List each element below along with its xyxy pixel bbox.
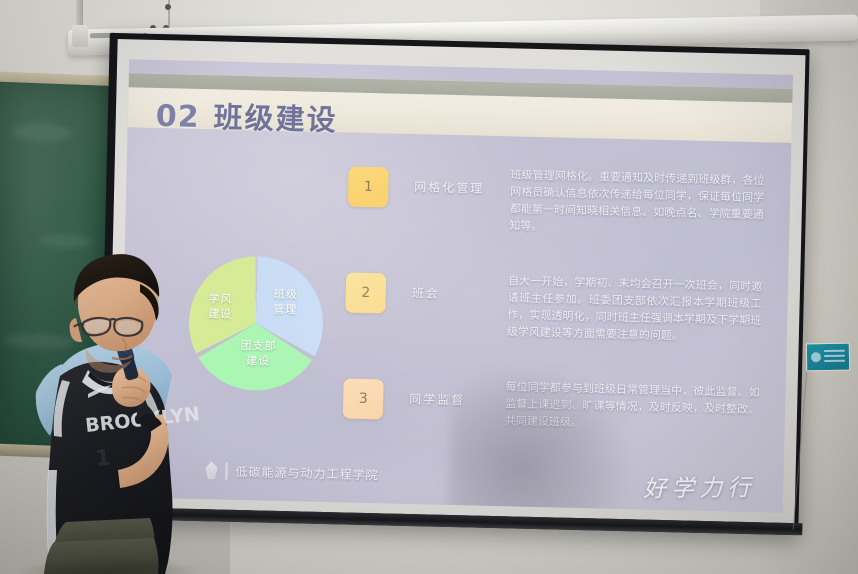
classroom-photo: 02 班级建设 班级 管理 团支部 建设 学风 建设 1 网格化管理 [0,0,858,574]
presenter: BROOKLYN 1 [0,0,858,574]
svg-text:1: 1 [94,446,112,472]
